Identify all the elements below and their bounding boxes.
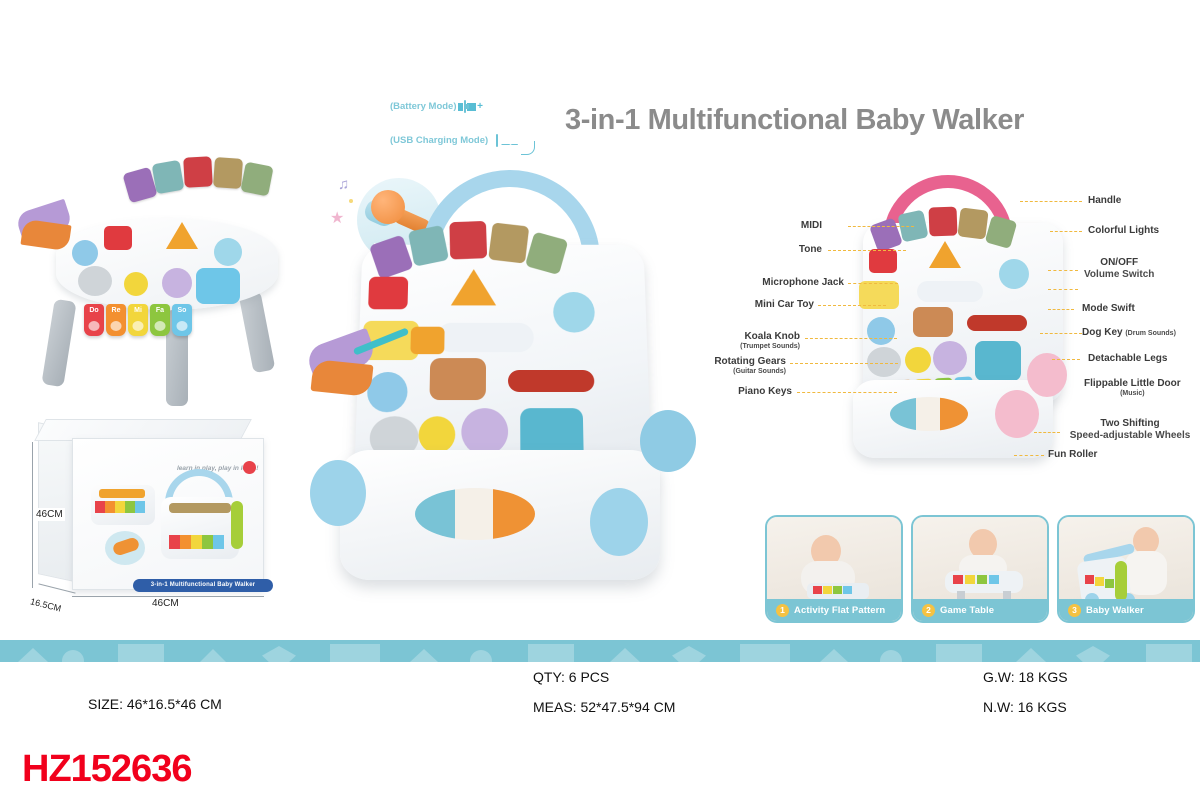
callout-koala-knob: Koala Knob (Trumpet Sounds) bbox=[700, 331, 800, 350]
usage-number-badge: 3 bbox=[1068, 604, 1081, 617]
annotated-wheel bbox=[995, 390, 1039, 438]
spec-net-weight: N.W: 16 KGS bbox=[983, 699, 1067, 715]
callout-label: Detachable Legs bbox=[1088, 353, 1167, 364]
mirror-toy bbox=[869, 249, 897, 273]
mirror-toy bbox=[104, 226, 132, 250]
leader-line bbox=[797, 392, 897, 393]
spec-meas: MEAS: 52*47.5*94 CM bbox=[533, 699, 675, 715]
product-image-main-walker: Do Re Mi Fa So bbox=[300, 170, 720, 630]
callout-label: Dog Key bbox=[1082, 327, 1123, 338]
leader-line bbox=[848, 283, 898, 284]
gear-toy bbox=[124, 272, 148, 296]
package-banner: 3-in-1 Multifunctional Baby Walker bbox=[133, 579, 273, 592]
usb-plug-icon bbox=[496, 135, 498, 146]
rotating-gear[interactable] bbox=[418, 416, 455, 453]
callout-label: Microphone Jack bbox=[762, 277, 844, 288]
box-art-support bbox=[231, 501, 243, 549]
walker-wheel bbox=[640, 410, 696, 472]
mirror-toy[interactable] bbox=[368, 277, 408, 310]
fun-roller[interactable] bbox=[415, 488, 535, 540]
callout-sublabel: Volume Switch bbox=[1084, 269, 1154, 280]
brand-badge bbox=[243, 461, 256, 474]
callout-label: Koala Knob bbox=[744, 331, 800, 342]
product-code: HZ152636 bbox=[22, 748, 191, 791]
page-title: 3-in-1 Multifunctional Baby Walker bbox=[565, 104, 1195, 137]
callout-label: MIDI bbox=[801, 220, 822, 231]
koala-knob bbox=[78, 266, 112, 296]
koala-knob bbox=[867, 347, 901, 377]
abc-slider bbox=[917, 281, 983, 302]
battery-mode-row: (Battery Mode) + bbox=[390, 101, 466, 112]
toy-detail bbox=[977, 575, 987, 584]
toy-detail bbox=[1085, 575, 1094, 584]
box-art-key bbox=[105, 501, 115, 513]
toy-detail bbox=[1095, 577, 1104, 586]
box-art-detail bbox=[169, 503, 231, 513]
callout-sublabel: Speed-adjustable Wheels bbox=[1064, 430, 1196, 441]
abc-123-bar bbox=[967, 315, 1027, 331]
callout-label: Flippable Little Door bbox=[1084, 378, 1181, 389]
spec-gross-weight: G.W: 18 KGS bbox=[983, 669, 1068, 685]
callout-onoff-volume-switch: ON/OFF Volume Switch bbox=[1084, 257, 1154, 280]
box-art-key bbox=[169, 535, 180, 549]
box-art-key bbox=[95, 501, 105, 513]
box-art-key bbox=[213, 535, 224, 549]
callout-sublabel: (Drum Sounds) bbox=[1125, 330, 1176, 337]
toy-detail bbox=[953, 575, 963, 584]
abc-slider[interactable] bbox=[436, 323, 534, 352]
usb-mode-label: (USB Charging Mode) bbox=[390, 135, 488, 146]
package-box-view: learn in play, play in learn! 3-in-1 Mul… bbox=[20, 420, 290, 635]
usage-number-badge: 1 bbox=[776, 604, 789, 617]
usage-caption-2: 2 Game Table bbox=[913, 599, 1047, 621]
callout-flippable-little-door: Flippable Little Door (Music) bbox=[1084, 378, 1181, 397]
usage-modes-gallery: 1 Activity Flat Pattern 2 Game Table bbox=[765, 515, 1195, 623]
mini-car-toy-leaf[interactable] bbox=[310, 359, 373, 397]
round-toy bbox=[214, 238, 242, 266]
package-box-side bbox=[38, 422, 74, 582]
callout-detachable-legs: Detachable Legs bbox=[1088, 353, 1167, 364]
dog-key bbox=[913, 307, 953, 337]
callout-colorful-lights: Colorful Lights bbox=[1088, 225, 1159, 236]
dim-width-label: 46CM bbox=[152, 598, 179, 609]
dim-depth-label: 16.5CM bbox=[29, 596, 62, 613]
usage-label: Baby Walker bbox=[1086, 605, 1144, 616]
product-image-annotated-walker: Do Re Mi Fa So bbox=[845, 175, 1080, 465]
box-art-key bbox=[202, 535, 213, 549]
callout-dog-key: Dog Key (Drum Sounds) bbox=[1082, 327, 1176, 338]
spec-qty: QTY: 6 PCS bbox=[533, 669, 609, 685]
dim-line-width bbox=[72, 596, 264, 597]
baby-body bbox=[1125, 551, 1167, 595]
callout-label: Colorful Lights bbox=[1088, 225, 1159, 236]
toy-detail bbox=[1105, 579, 1114, 588]
toy-detail bbox=[989, 575, 999, 584]
triangle-toy bbox=[929, 241, 961, 268]
callout-sublabel: (Guitar Sounds) bbox=[676, 368, 786, 375]
callout-label: Mode Swift bbox=[1082, 303, 1135, 314]
callout-handle: Handle bbox=[1088, 195, 1121, 206]
walker-support bbox=[1115, 561, 1127, 601]
toy-detail bbox=[813, 586, 822, 594]
callout-piano-keys: Piano Keys bbox=[706, 386, 792, 397]
dog-key[interactable] bbox=[429, 358, 486, 400]
triangle-toy bbox=[166, 222, 198, 249]
table-leg bbox=[239, 291, 276, 374]
leader-line bbox=[790, 363, 898, 364]
usage-caption-1: 1 Activity Flat Pattern bbox=[767, 599, 901, 621]
usage-thumb-2[interactable]: 2 Game Table bbox=[911, 515, 1049, 623]
gear-toy bbox=[162, 268, 192, 298]
speaker-knob[interactable] bbox=[367, 372, 408, 412]
usage-caption-3: 3 Baby Walker bbox=[1059, 599, 1193, 621]
callout-sublabel: (Trumpet Sounds) bbox=[700, 343, 800, 350]
toy-detail bbox=[833, 586, 842, 594]
flippable-little-door bbox=[975, 341, 1021, 381]
table-arch-blocks bbox=[126, 170, 286, 216]
leader-line bbox=[1034, 432, 1060, 433]
toy-detail bbox=[965, 575, 975, 584]
toy-detail bbox=[843, 586, 852, 594]
leader-line bbox=[1014, 455, 1044, 456]
round-mirror-toy bbox=[999, 259, 1029, 289]
abc-123-bar bbox=[508, 370, 595, 392]
annotated-fun-roller bbox=[890, 397, 968, 431]
speaker-knob bbox=[867, 317, 895, 345]
leader-line bbox=[1048, 309, 1074, 310]
box-art-key bbox=[191, 535, 202, 549]
leader-line bbox=[1040, 333, 1082, 334]
usage-thumb-1[interactable]: 1 Activity Flat Pattern bbox=[765, 515, 903, 623]
rotating-gear bbox=[933, 341, 967, 375]
table-leg bbox=[41, 299, 76, 387]
little-door bbox=[196, 268, 240, 304]
callout-label: Mini Car Toy bbox=[755, 299, 814, 310]
callout-sublabel: (Music) bbox=[1084, 390, 1181, 397]
battery-icon: + bbox=[464, 101, 466, 112]
speaker-knob bbox=[72, 240, 98, 266]
callout-speed-adjustable-wheels: Two Shifting Speed-adjustable Wheels bbox=[1064, 418, 1196, 441]
callout-mini-car-toy: Mini Car Toy bbox=[704, 299, 814, 310]
box-art-key bbox=[135, 501, 145, 513]
callout-fun-roller: Fun Roller bbox=[1048, 449, 1097, 460]
box-art-key bbox=[125, 501, 135, 513]
leader-line bbox=[828, 250, 906, 251]
leader-line bbox=[1020, 201, 1082, 202]
usage-number-badge: 2 bbox=[922, 604, 935, 617]
battery-mode-label: (Battery Mode) bbox=[390, 101, 457, 112]
usage-thumb-3[interactable]: 3 Baby Walker bbox=[1057, 515, 1195, 623]
dim-line-depth bbox=[38, 583, 75, 593]
leader-line bbox=[1050, 231, 1082, 232]
triangle-toy[interactable] bbox=[451, 269, 496, 305]
usage-label: Game Table bbox=[940, 605, 994, 616]
leader-line bbox=[1048, 289, 1078, 290]
leader-line bbox=[848, 226, 914, 227]
leader-line bbox=[1052, 359, 1080, 360]
dim-line-height bbox=[32, 442, 33, 588]
callout-label: Piano Keys bbox=[738, 386, 792, 397]
box-art-key bbox=[180, 535, 191, 549]
leader-line bbox=[1048, 270, 1078, 271]
walker-wheel bbox=[310, 460, 366, 526]
walker-wheel bbox=[590, 488, 648, 556]
callout-rotating-gears: Rotating Gears (Guitar Sounds) bbox=[676, 356, 786, 375]
leaf-toy bbox=[20, 219, 71, 251]
callout-midi: MIDI bbox=[742, 220, 822, 231]
package-box-front: learn in play, play in learn! 3-in-1 Mul… bbox=[72, 438, 264, 590]
walker-arch-blocks bbox=[373, 224, 597, 267]
box-art-key bbox=[115, 501, 125, 513]
rotating-gear[interactable] bbox=[461, 408, 508, 455]
table-piano-keys[interactable]: Do Re Mi Fa So bbox=[84, 304, 192, 336]
callout-mode-swift: Mode Swift bbox=[1082, 303, 1135, 314]
rotating-gear bbox=[905, 347, 931, 373]
usb-mode-row: (USB Charging Mode) bbox=[390, 135, 498, 146]
callout-tone: Tone bbox=[722, 244, 822, 255]
callout-label: Fun Roller bbox=[1048, 449, 1097, 460]
decorative-band bbox=[0, 640, 1200, 662]
callout-microphone-jack: Microphone Jack bbox=[716, 277, 844, 288]
product-image-activity-table: Do Re Mi Fa So bbox=[18, 160, 318, 410]
callout-label: Handle bbox=[1088, 195, 1121, 206]
callout-label: Two Shifting bbox=[1100, 418, 1159, 429]
spec-size: SIZE: 46*16.5*46 CM bbox=[88, 696, 222, 712]
usage-label: Activity Flat Pattern bbox=[794, 605, 885, 616]
callout-label: Tone bbox=[799, 244, 822, 255]
leader-line bbox=[805, 338, 897, 339]
midi-pad[interactable] bbox=[410, 327, 444, 354]
callout-label: Rotating Gears bbox=[714, 356, 786, 367]
leader-line bbox=[818, 305, 886, 306]
callout-label: ON/OFF bbox=[1100, 257, 1138, 268]
toy-detail bbox=[823, 586, 832, 594]
box-art-detail bbox=[99, 489, 145, 498]
dim-height-label: 46CM bbox=[34, 508, 65, 521]
round-mirror-toy[interactable] bbox=[553, 292, 595, 333]
